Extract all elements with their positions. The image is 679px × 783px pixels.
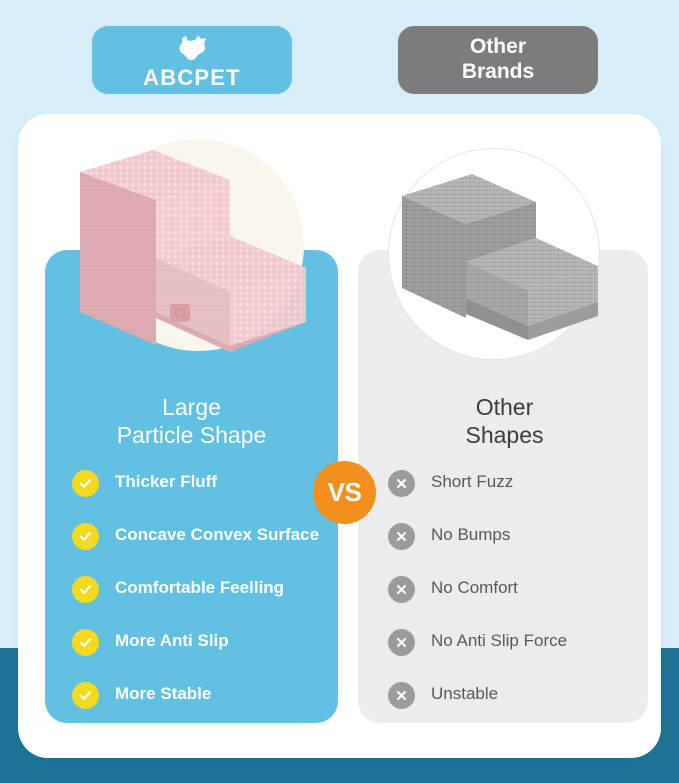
list-item: Short Fuzz — [388, 470, 638, 523]
list-item: Comfortable Feelling — [72, 576, 322, 629]
right-title-line1: Other — [358, 394, 651, 422]
check-circle-icon — [72, 576, 99, 603]
header: ABCPET Other Brands — [0, 26, 679, 96]
list-item: More Anti Slip — [72, 629, 322, 682]
x-circle-icon — [388, 523, 415, 550]
left-title-line1: Large — [45, 394, 338, 422]
x-circle-icon — [388, 470, 415, 497]
right-column-title: Other Shapes — [358, 394, 651, 449]
feature-label: Short Fuzz — [431, 470, 513, 493]
left-feature-list: Thicker Fluff Concave Convex Surface Com… — [72, 470, 322, 735]
feature-label: Concave Convex Surface — [115, 523, 319, 546]
feature-label: No Comfort — [431, 576, 518, 599]
vs-badge: VS — [313, 461, 376, 524]
brand-name: ABCPET — [143, 67, 241, 89]
right-feature-list: Short Fuzz No Bumps No Comfort No Anti S… — [388, 470, 638, 735]
feature-label: More Stable — [115, 682, 211, 705]
check-circle-icon — [72, 629, 99, 656]
feature-label: Unstable — [431, 682, 498, 705]
x-circle-icon — [388, 629, 415, 656]
list-item: No Anti Slip Force — [388, 629, 638, 682]
left-title-line2: Particle Shape — [45, 422, 338, 450]
pink-pet-stairs-image — [58, 140, 338, 360]
list-item: Unstable — [388, 682, 638, 735]
other-brands-line2: Brands — [462, 60, 534, 85]
x-circle-icon — [388, 682, 415, 709]
other-brands-badge: Other Brands — [398, 26, 598, 94]
brand-badge: ABCPET — [92, 26, 292, 94]
list-item: No Bumps — [388, 523, 638, 576]
list-item: No Comfort — [388, 576, 638, 629]
list-item: Concave Convex Surface — [72, 523, 322, 576]
feature-label: More Anti Slip — [115, 629, 229, 652]
check-circle-icon — [72, 682, 99, 709]
feature-label: No Bumps — [431, 523, 510, 546]
check-circle-icon — [72, 523, 99, 550]
gray-pet-stairs-image — [394, 158, 614, 358]
pet-head-icon — [175, 35, 209, 66]
left-column-title: Large Particle Shape — [45, 394, 338, 449]
list-item: Thicker Fluff — [72, 470, 322, 523]
list-item: More Stable — [72, 682, 322, 735]
feature-label: Comfortable Feelling — [115, 576, 284, 599]
x-circle-icon — [388, 576, 415, 603]
feature-label: No Anti Slip Force — [431, 629, 567, 652]
right-title-line2: Shapes — [358, 422, 651, 450]
feature-label: Thicker Fluff — [115, 470, 217, 493]
check-circle-icon — [72, 470, 99, 497]
other-brands-line1: Other — [470, 35, 526, 60]
